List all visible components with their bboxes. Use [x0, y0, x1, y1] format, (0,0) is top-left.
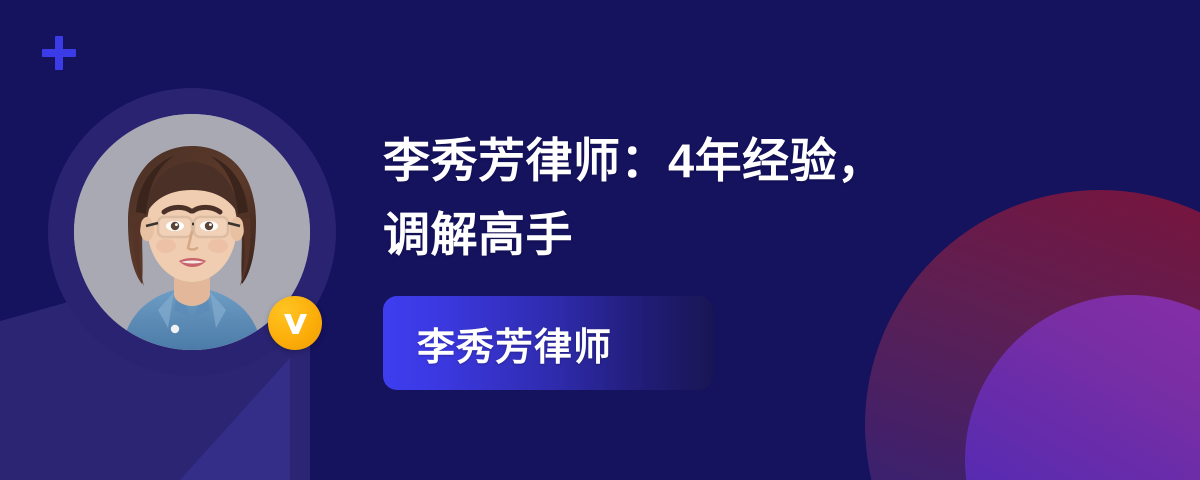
- lawyer-name-button[interactable]: 李秀芳律师: [383, 296, 713, 390]
- lawyer-profile-banner: 李秀芳律师：4年经验， 调解高手 李秀芳律师: [0, 0, 1200, 480]
- avatar: [48, 88, 336, 376]
- page-title: 李秀芳律师：4年经验， 调解高手: [383, 124, 1023, 272]
- verified-badge-icon: [268, 296, 322, 350]
- plus-icon: [42, 36, 76, 70]
- content-column: 李秀芳律师：4年经验， 调解高手 李秀芳律师: [383, 124, 1023, 390]
